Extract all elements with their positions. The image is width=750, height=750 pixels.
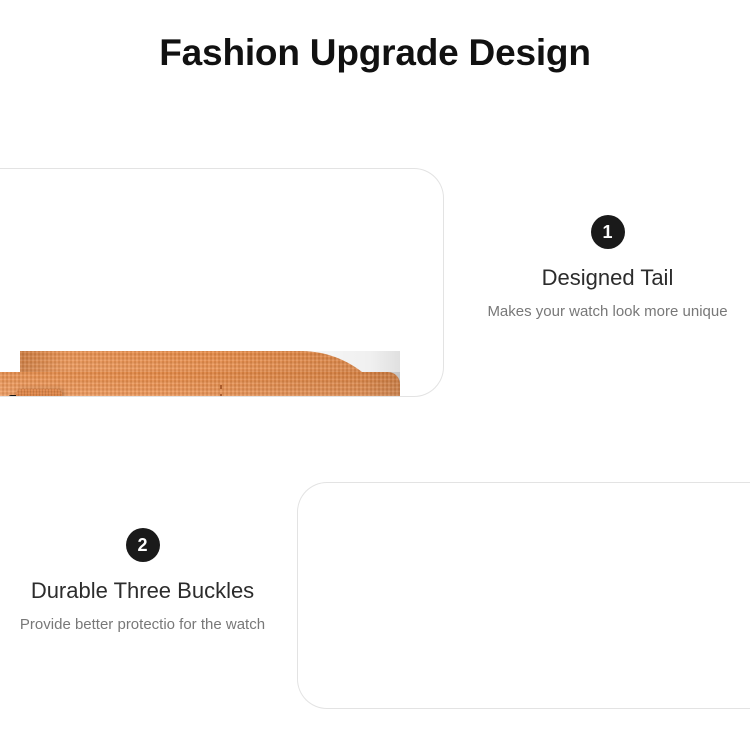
feature-title-1: Designed Tail bbox=[465, 265, 750, 291]
feature-badge-2: 2 bbox=[126, 528, 160, 562]
product-feature-page: Fashion Upgrade Design KB 05 SWEATPROOF … bbox=[0, 0, 750, 750]
keeper-loop bbox=[16, 389, 62, 397]
three-buckles-photo bbox=[297, 482, 750, 709]
feature-block-2: 2 Durable Three Buckles Provide better p… bbox=[0, 528, 285, 636]
feature-description-2: Provide better protectio for the watch bbox=[0, 614, 285, 636]
feature-description-1: Makes your watch look more unique bbox=[465, 301, 750, 323]
page-title: Fashion Upgrade Design bbox=[0, 32, 750, 74]
strap-tail-photo: KB 05 SWEATPROOF DURABLE TENACITY Kalebo… bbox=[0, 168, 444, 397]
feature-block-1: 1 Designed Tail Makes your watch look mo… bbox=[465, 215, 750, 323]
feature-badge-1: 1 bbox=[591, 215, 625, 249]
stitch-line bbox=[220, 385, 222, 397]
feature-title-2: Durable Three Buckles bbox=[0, 578, 285, 604]
